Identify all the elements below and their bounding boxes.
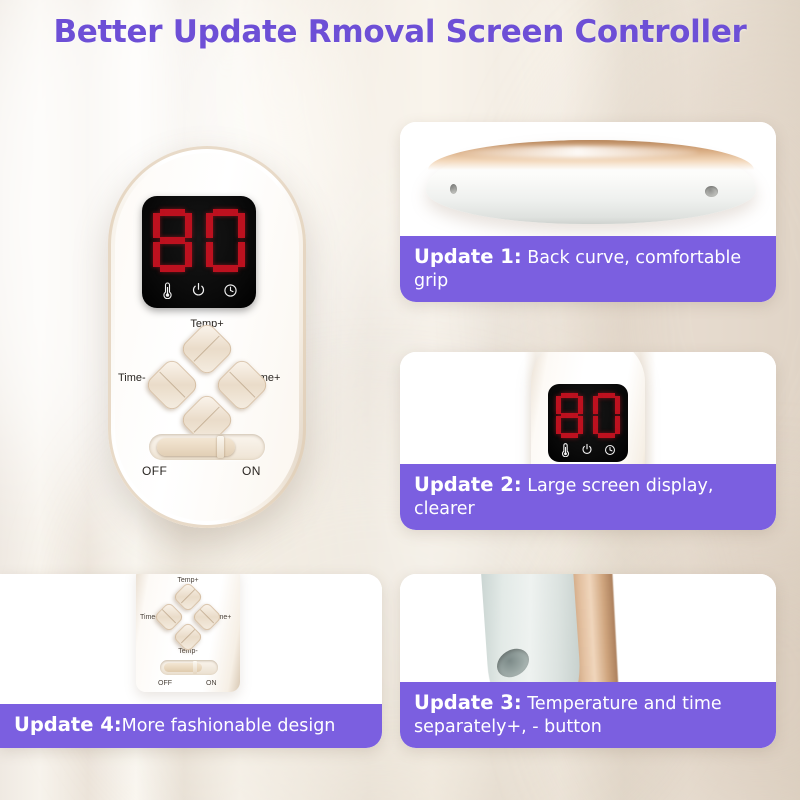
clock-icon: [223, 283, 238, 298]
infographic-page: Better Update Rmoval Screen Controller: [0, 0, 800, 800]
power-icon: [191, 282, 206, 298]
time-down-button[interactable]: [144, 357, 201, 414]
led-icon-row-closeup: [548, 442, 628, 457]
update-4-card[interactable]: Temp+ Time- Time+ Temp- OFF: [0, 574, 382, 748]
led-display-screen-closeup: [548, 384, 628, 462]
clock-icon: [604, 444, 616, 456]
update-4-banner: Update 4:More fashionable design: [0, 704, 382, 748]
time-up-button[interactable]: [214, 357, 271, 414]
slider-notch: [217, 436, 224, 458]
panel-time-up-button: [191, 601, 222, 632]
update-1-banner: Update 1: Back curve, comfortable grip: [400, 236, 776, 302]
button-panel-closeup-image: Temp+ Time- Time+ Temp- OFF: [136, 574, 240, 692]
update-3-banner: Update 3: Temperature and time separatel…: [400, 682, 776, 748]
page-title: Better Update Rmoval Screen Controller: [0, 14, 800, 50]
led-digit-tens: [555, 392, 584, 439]
led-display-screen: [142, 196, 256, 308]
panel-button-pad: [163, 588, 213, 648]
panel-power-slider: [160, 660, 218, 675]
switch-off-label: OFF: [142, 464, 167, 478]
power-slider-switch[interactable]: [149, 434, 265, 460]
time-down-label: Time-: [118, 372, 146, 384]
led-digit-tens: [152, 208, 193, 274]
thermometer-icon: [560, 442, 571, 457]
led-digits: [152, 208, 246, 274]
device-port-icon: [705, 186, 718, 197]
power-icon: [581, 443, 593, 456]
update-2-card[interactable]: Temp+ Update 2: Large screen display, cl…: [400, 352, 776, 530]
button-pad: [160, 332, 254, 442]
device-port-icon: [450, 184, 457, 194]
panel-switch-on-label: ON: [206, 680, 217, 687]
switch-on-label: ON: [242, 464, 261, 478]
panel-switch-off-label: OFF: [158, 680, 172, 687]
update-1-card[interactable]: Update 1: Back curve, comfortable grip: [400, 122, 776, 302]
led-digit-ones: [592, 392, 621, 439]
update-4-lead: Update 4:: [14, 713, 122, 736]
panel-temp-down-button: [172, 621, 203, 652]
update-3-lead: Update 3:: [414, 691, 522, 714]
update-2-lead: Update 2:: [414, 473, 522, 496]
device-side-profile-image: [426, 140, 756, 224]
led-icon-row: [142, 281, 256, 299]
update-1-lead: Update 1:: [414, 245, 522, 268]
update-2-banner: Update 2: Large screen display, clearer: [400, 464, 776, 530]
update-3-card[interactable]: Update 3: Temperature and time separatel…: [400, 574, 776, 748]
led-digit-ones: [205, 208, 246, 274]
thermometer-icon: [161, 281, 174, 299]
update-4-text: More fashionable design: [122, 716, 336, 736]
led-digits-closeup: [555, 392, 621, 439]
main-controller-device: Temp+ Time- Time+ Temp- OFF ON: [108, 146, 306, 528]
